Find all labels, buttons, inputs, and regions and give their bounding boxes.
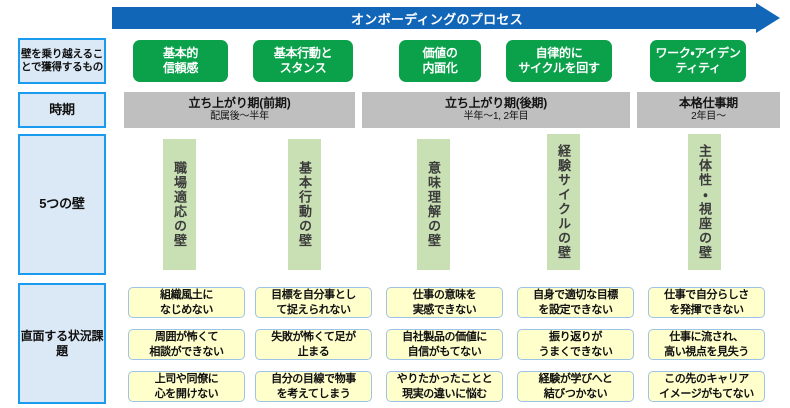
row-label-gains-text: 壁を乗り越えることで獲得するもの	[20, 48, 104, 74]
period-bar-1-title: 立ち上がり期(前期)	[189, 96, 291, 110]
issue-card-5-2-text: 仕事に流され、高い視点を見失う	[664, 330, 749, 359]
period-bar-1-sub: 配属後〜半年	[210, 111, 269, 124]
row-label-five-walls: 5つの壁	[18, 134, 106, 275]
issue-card-3-1-text: 仕事の意味を実感できない	[413, 288, 477, 317]
wall-bar-2: 基本行動の壁	[288, 139, 321, 270]
row-label-gains: 壁を乗り越えることで獲得するもの	[18, 38, 106, 84]
issue-card-1-2: 周囲が怖くて相談ができない	[128, 329, 245, 360]
issue-card-2-1: 目標を自分事として捉えられない	[255, 287, 372, 318]
wall-bar-1: 職場適応の壁	[163, 139, 196, 270]
gain-pill-4-label: 自律的にサイクルを回す	[518, 46, 599, 77]
issue-card-5-3: この先のキャリアイメージがもてない	[648, 371, 765, 402]
process-arrow-label: オンボーディングのプロセス	[112, 3, 780, 33]
issue-card-3-1: 仕事の意味を実感できない	[386, 287, 503, 318]
issue-card-5-3-text: この先のキャリアイメージがもてない	[659, 372, 754, 401]
issue-card-5-1: 仕事で自分らしさを発揮できない	[648, 287, 765, 318]
onboarding-process-diagram: オンボーディングのプロセス 壁を乗り越えることで獲得するもの 時期 5つの壁 直…	[0, 0, 790, 408]
period-bar-2: 立ち上がり期(後期) 半年〜1, 2年目	[362, 92, 630, 128]
gain-pill-1: 基本的信頼感	[133, 40, 228, 82]
row-label-issues: 直面する状況課題	[18, 283, 106, 404]
issue-card-4-1-text: 自身で適切な目標を設定できない	[533, 288, 618, 317]
row-label-issues-text: 直面する状況課題	[20, 329, 104, 359]
period-bar-3-sub: 2年目〜	[691, 111, 726, 124]
row-label-five-walls-text: 5つの壁	[39, 196, 84, 212]
period-bar-3-title: 本格仕事期	[679, 96, 738, 110]
gain-pill-2: 基本行動とスタンス	[253, 40, 353, 82]
period-bar-2-sub: 半年〜1, 2年目	[464, 111, 529, 124]
issue-card-5-2: 仕事に流され、高い視点を見失う	[648, 329, 765, 360]
row-label-period: 時期	[18, 92, 106, 128]
wall-bar-3-label: 意味理解の壁	[427, 161, 440, 248]
issue-card-1-1: 組織風土になじめない	[128, 287, 245, 318]
wall-bar-4-label: 経験サイクルの壁	[557, 144, 570, 260]
process-arrow: オンボーディングのプロセス	[112, 3, 780, 33]
issue-card-2-2: 失敗が怖くて足が止まる	[255, 329, 372, 360]
gain-pill-2-label: 基本行動とスタンス	[274, 46, 333, 77]
issue-card-3-2: 自社製品の価値に自信がもてない	[386, 329, 503, 360]
issue-card-2-1-text: 目標を自分事として捉えられない	[271, 288, 356, 317]
issue-card-1-3-text: 上司や同僚に心を開けない	[155, 372, 219, 401]
period-bar-3: 本格仕事期 2年目〜	[637, 92, 780, 128]
issue-card-3-2-text: 自社製品の価値に自信がもてない	[402, 330, 487, 359]
issue-card-1-1-text: 組織風土になじめない	[160, 288, 213, 317]
gain-pill-1-label: 基本的信頼感	[163, 46, 198, 77]
wall-bar-2-label: 基本行動の壁	[298, 161, 311, 248]
issue-card-3-3-text: やりたかったことと現実の違いに悩む	[397, 372, 492, 401]
row-label-period-text: 時期	[49, 102, 75, 118]
issue-card-4-1: 自身で適切な目標を設定できない	[517, 287, 634, 318]
issue-card-3-3: やりたかったことと現実の違いに悩む	[386, 371, 503, 402]
issue-card-5-1-text: 仕事で自分らしさを発揮できない	[664, 288, 749, 317]
issue-card-2-3-text: 自分の目線で物事を考えてしまう	[271, 372, 356, 401]
issue-card-2-3: 自分の目線で物事を考えてしまう	[255, 371, 372, 402]
period-bar-1: 立ち上がり期(前期) 配属後〜半年	[124, 92, 355, 128]
gain-pill-5-label: ワーク・アイデンティティ	[655, 46, 740, 77]
gain-pill-3-label: 価値の内面化	[422, 46, 457, 77]
gain-pill-4: 自律的にサイクルを回す	[506, 40, 612, 82]
wall-bar-3: 意味理解の壁	[417, 139, 450, 270]
wall-bar-5: 主体性・視座の壁	[688, 134, 721, 270]
issue-card-2-2-text: 失敗が怖くて足が止まる	[271, 330, 355, 359]
issue-card-4-2: 振り返りがうまくできない	[517, 329, 634, 360]
wall-bar-1-label: 職場適応の壁	[173, 161, 186, 248]
gain-pill-5: ワーク・アイデンティティ	[650, 40, 746, 82]
gain-pill-3: 価値の内面化	[399, 40, 481, 82]
issue-card-4-3-text: 経験が学びへと結びつかない	[539, 372, 613, 401]
issue-card-4-2-text: 振り返りがうまくできない	[539, 330, 613, 359]
wall-bar-4: 経験サイクルの壁	[547, 134, 580, 270]
period-bar-2-title: 立ち上がり期(後期)	[445, 96, 547, 110]
wall-bar-5-label: 主体性・視座の壁	[698, 144, 711, 260]
issue-card-1-2-text: 周囲が怖くて相談ができない	[149, 330, 223, 359]
issue-card-4-3: 経験が学びへと結びつかない	[517, 371, 634, 402]
issue-card-1-3: 上司や同僚に心を開けない	[128, 371, 245, 402]
